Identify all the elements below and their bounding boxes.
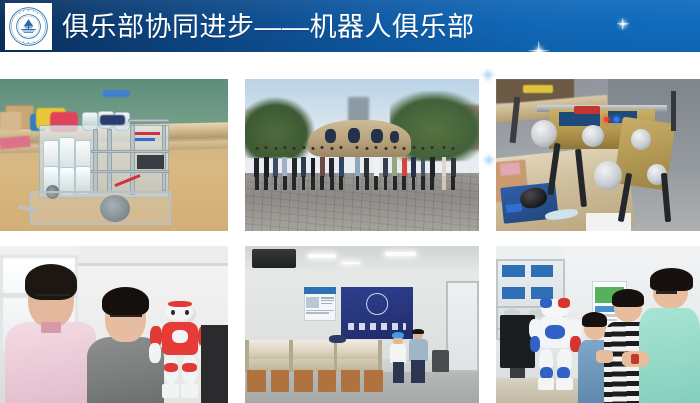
sparkle-gap-mid-icon xyxy=(481,152,496,167)
department-banner xyxy=(341,287,414,339)
slide: 俱乐部协同进步——机器人俱乐部 xyxy=(0,0,700,403)
page-title: 俱乐部协同进步——机器人俱乐部 xyxy=(62,6,475,48)
gallery-photo-2[interactable] xyxy=(245,79,479,231)
university-logo xyxy=(5,3,52,50)
gallery-photo-1[interactable] xyxy=(0,79,228,231)
gallery-photo-6[interactable] xyxy=(496,246,700,403)
wall-poster xyxy=(304,287,337,322)
gallery-photo-5[interactable] xyxy=(245,246,479,403)
slide-header: 俱乐部协同进步——机器人俱乐部 xyxy=(0,0,700,52)
gallery-photo-4[interactable] xyxy=(0,246,228,403)
sparkle-gap-top-icon xyxy=(479,66,497,84)
photo-gallery xyxy=(0,52,700,403)
humanoid-robot xyxy=(531,299,580,390)
gallery-photo-3[interactable] xyxy=(496,79,700,231)
